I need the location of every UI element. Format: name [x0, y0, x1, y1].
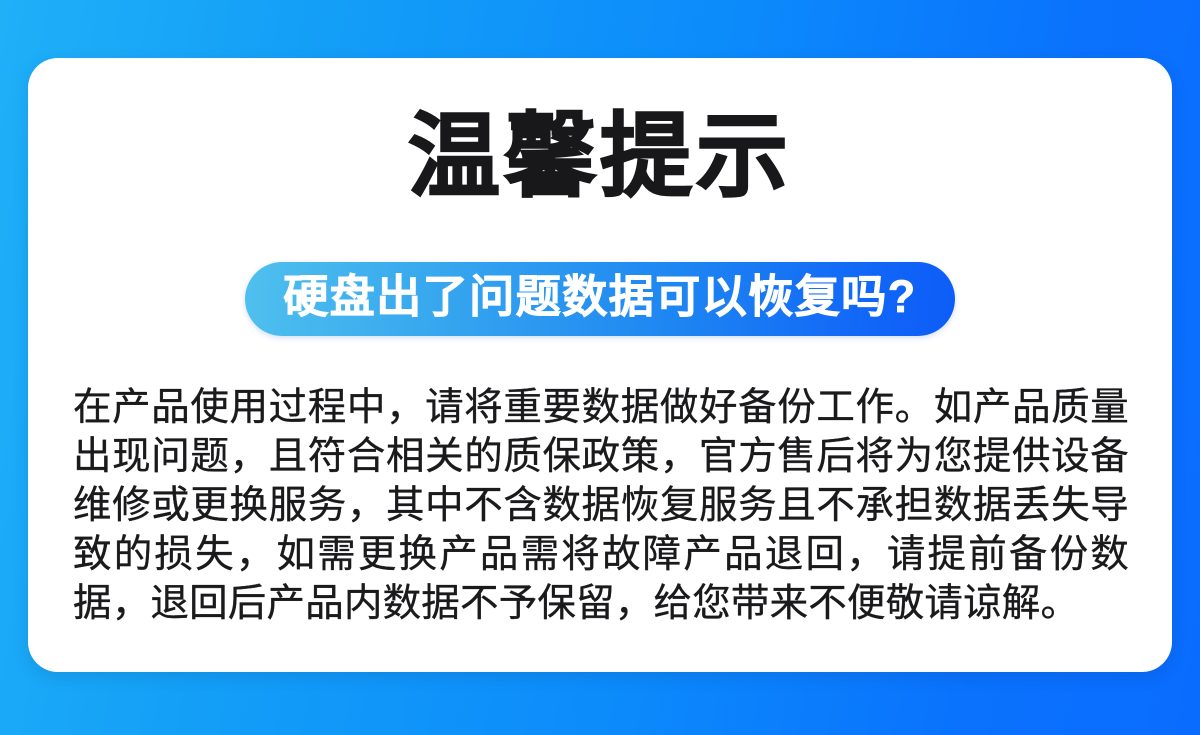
notice-card: 温馨提示 硬盘出了问题数据可以恢复吗? 在产品使用过程中，请将重要数据做好备份工… — [28, 58, 1172, 672]
page-title: 温馨提示 — [28, 106, 1172, 208]
notice-banner: 温馨提示 硬盘出了问题数据可以恢复吗? 在产品使用过程中，请将重要数据做好备份工… — [0, 0, 1200, 735]
question-badge: 硬盘出了问题数据可以恢复吗? — [245, 262, 955, 336]
question-badge-row: 硬盘出了问题数据可以恢复吗? — [28, 262, 1172, 336]
notice-body-text: 在产品使用过程中，请将重要数据做好备份工作。如产品质量出现问题，且符合相关的质保… — [73, 383, 1129, 628]
